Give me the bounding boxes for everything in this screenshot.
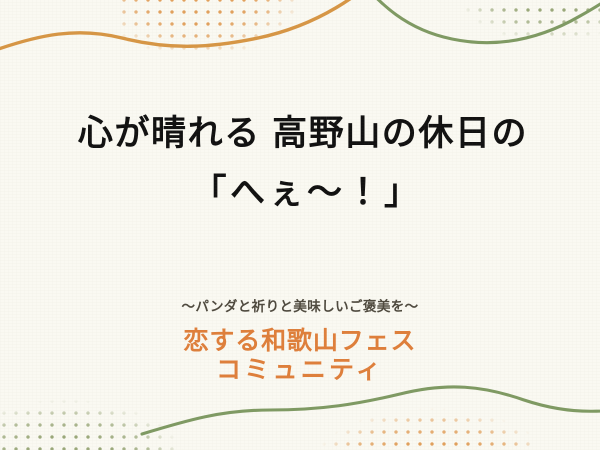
poster-canvas: 心が晴れる 高野山の休日の 「へぇ〜！」 〜パンダと祈りと美味しいご褒美を〜 恋… (0, 0, 600, 450)
brand-tagline: 〜パンダと祈りと美味しいご褒美を〜 (0, 300, 600, 314)
brand-name-line-1: 恋する和歌山フェス (0, 327, 600, 357)
headline: 心が晴れる 高野山の休日の 「へぇ〜！」 (0, 116, 600, 210)
poster-content: 心が晴れる 高野山の休日の 「へぇ〜！」 〜パンダと祈りと美味しいご褒美を〜 恋… (0, 0, 600, 450)
brand-name-line-2: コミュニティ (0, 356, 600, 386)
brand-lockup: 〜パンダと祈りと美味しいご褒美を〜 恋する和歌山フェス コミュニティ (0, 300, 600, 386)
headline-line-2: 「へぇ〜！」 (14, 175, 600, 210)
headline-line-1: 心が晴れる 高野山の休日の (6, 116, 600, 151)
